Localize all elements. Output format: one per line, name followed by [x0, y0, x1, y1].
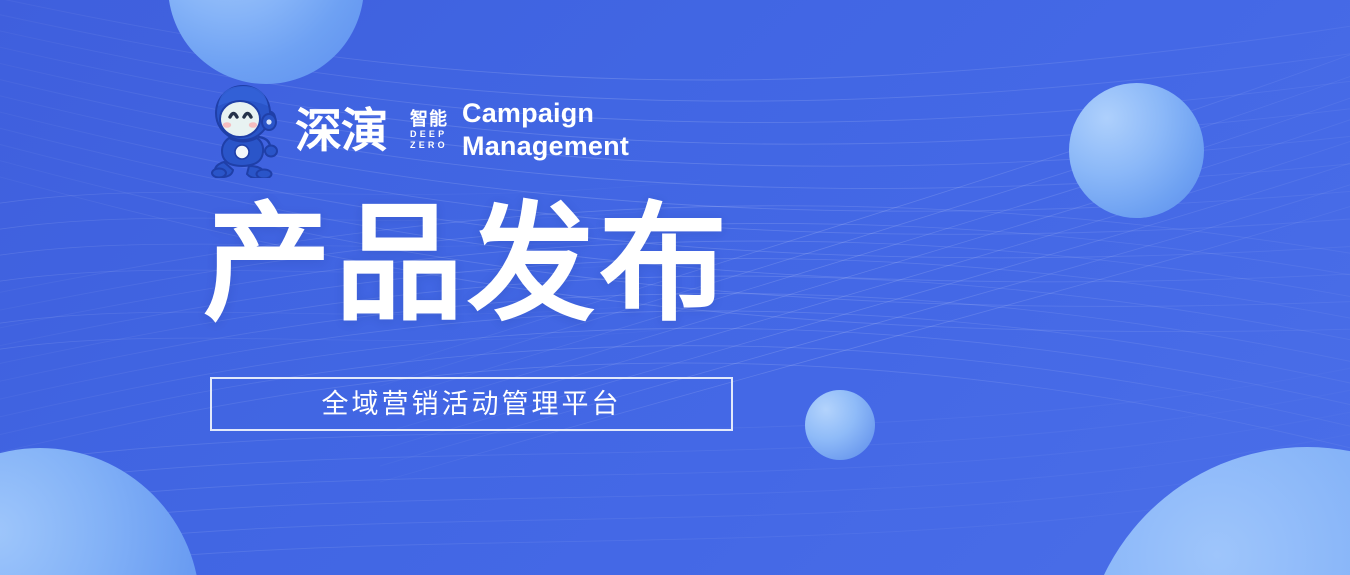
- product-name-line2: Management: [462, 130, 629, 163]
- product-name-label: Campaign Management: [462, 97, 629, 163]
- robot-mascot-icon: [207, 82, 285, 178]
- brand-latin-line2: ZERO: [410, 140, 448, 151]
- brand-cn-sub-label: 智能: [410, 109, 448, 129]
- product-launch-banner: 深演 智能 DEEP ZERO Campaign Management 产品发布…: [0, 0, 1350, 575]
- brand-latin-line1: DEEP: [410, 129, 448, 140]
- brand-logo-lockup: 深演 智能 DEEP ZERO Campaign Management: [207, 80, 629, 180]
- banner-content: 深演 智能 DEEP ZERO Campaign Management 产品发布…: [0, 0, 1350, 575]
- brand-cn-logotype-icon: 深演: [295, 103, 403, 157]
- brand-sub-stack: 智能 DEEP ZERO: [410, 102, 448, 158]
- brand-wordmark: 深演 智能 DEEP ZERO Campaign Management: [295, 94, 629, 166]
- page-title: 产品发布: [203, 192, 731, 338]
- subtitle-label: 全域营销活动管理平台: [322, 389, 622, 419]
- subtitle-frame: 全域营销活动管理平台: [210, 377, 733, 431]
- product-name-line1: Campaign: [462, 97, 629, 130]
- svg-text:深演: 深演: [295, 104, 387, 157]
